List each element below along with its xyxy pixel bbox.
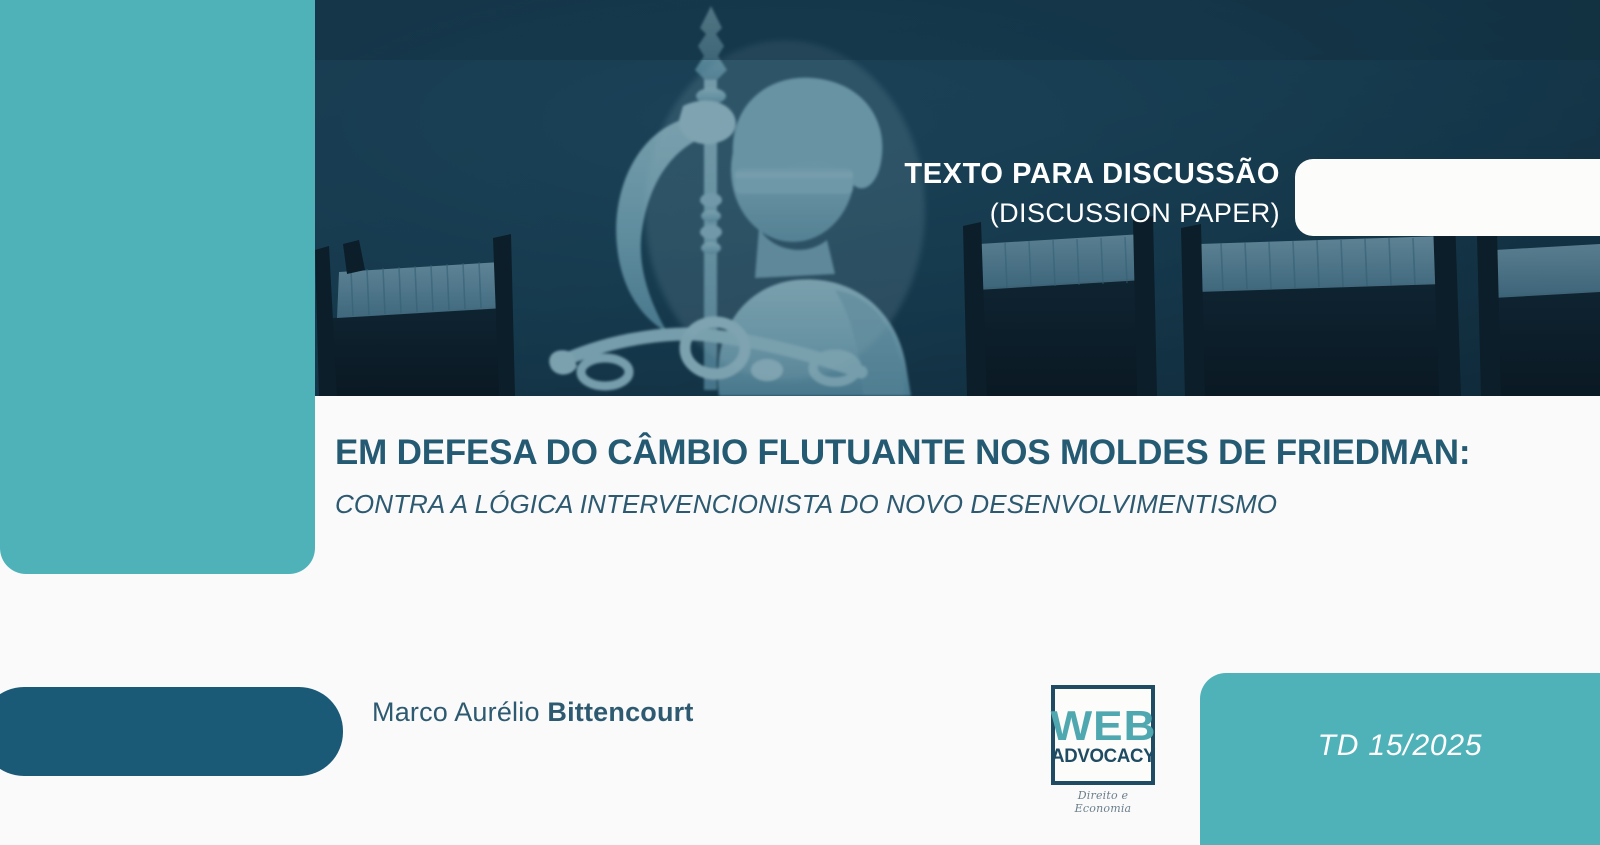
page-subtitle: CONTRA A LÓGICA INTERVENCIONISTA DO NOVO… [335, 489, 1565, 520]
author-name: Marco Aurélio Bittencourt [372, 697, 694, 728]
document-number-panel: TD 15/2025 [1200, 673, 1600, 845]
logo-wordmark-advocacy: ADVOCACY [1051, 747, 1155, 766]
page-title: EM DEFESA DO CÂMBIO FLUTUANTE NOS MOLDES… [335, 432, 1565, 473]
discussion-paper-cover: TEXTO PARA DISCUSSÃO (DISCUSSION PAPER) … [0, 0, 1600, 845]
author-given-names: Marco Aurélio [372, 697, 547, 727]
left-teal-panel [0, 0, 315, 574]
white-rounded-badge-placeholder [1295, 159, 1600, 236]
series-label-group: TEXTO PARA DISCUSSÃO (DISCUSSION PAPER) [600, 158, 1280, 229]
title-block: EM DEFESA DO CÂMBIO FLUTUANTE NOS MOLDES… [335, 432, 1565, 520]
series-label-pt: TEXTO PARA DISCUSSÃO [600, 158, 1280, 192]
bottom-left-dark-bar [0, 687, 343, 776]
logo-tagline: Direito e Economia [1048, 789, 1158, 815]
logo-wordmark-web: WEB [1050, 706, 1156, 746]
author-surname: Bittencourt [547, 697, 693, 727]
series-label-en: (DISCUSSION PAPER) [600, 198, 1280, 229]
document-number-label: TD 15/2025 [1318, 729, 1483, 763]
logo-frame: WEB ADVOCACY [1051, 685, 1155, 785]
web-advocacy-logo: WEB ADVOCACY Direito e Economia [1048, 685, 1158, 807]
